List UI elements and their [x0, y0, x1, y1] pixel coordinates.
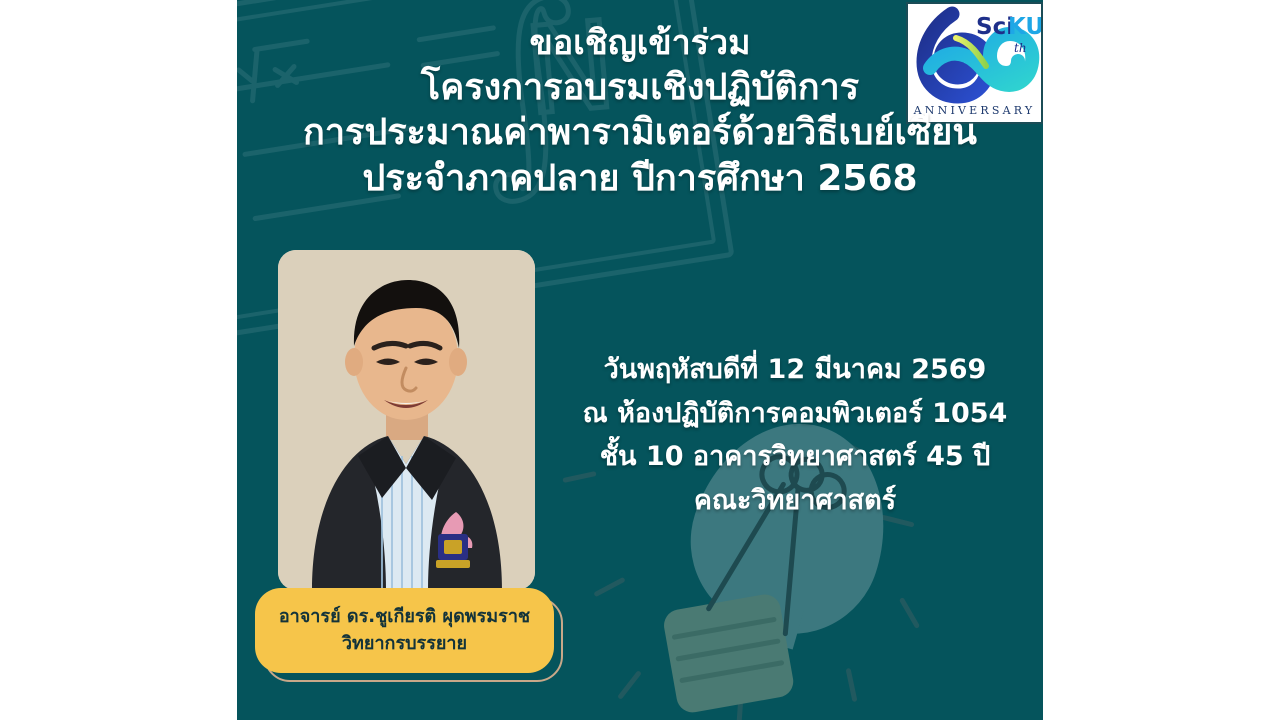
- letterbox-left: [0, 0, 237, 720]
- event-details: วันพฤหัสบดีที่ 12 มีนาคม 2569 ณ ห้องปฏิบ…: [555, 348, 1035, 523]
- poster-stage: ∫ N: [0, 0, 1280, 720]
- detail-room: ณ ห้องปฏิบัติการคอมพิวเตอร์ 1054: [555, 392, 1035, 436]
- headline-line-2: โครงการอบรมเชิงปฏิบัติการ: [237, 65, 1043, 110]
- badge-body: อาจารย์ ดร.ชูเกียรติ ผุดพรมราช วิทยากรบร…: [255, 588, 554, 673]
- speaker-badge: อาจารย์ ดร.ชูเกียรติ ผุดพรมราช วิทยากรบร…: [255, 588, 563, 682]
- speaker-portrait-illustration: [278, 250, 535, 590]
- speaker-name: อาจารย์ ดร.ชูเกียรติ ผุดพรมราช: [279, 604, 530, 630]
- headline-line-4: ประจำภาคปลาย ปีการศึกษา 2568: [237, 156, 1043, 201]
- speaker-photo: [278, 250, 535, 590]
- poster-canvas: ∫ N: [237, 0, 1043, 720]
- detail-building: ชั้น 10 อาคารวิทยาศาสตร์ 45 ปี: [555, 435, 1035, 479]
- detail-date: วันพฤหัสบดีที่ 12 มีนาคม 2569: [555, 348, 1035, 392]
- speaker-role: วิทยากรบรรยาย: [342, 631, 467, 657]
- detail-faculty: คณะวิทยาศาสตร์: [555, 479, 1035, 523]
- headline-line-1: ขอเชิญเข้าร่วม: [237, 22, 1043, 65]
- letterbox-right: [1043, 0, 1280, 720]
- page-title: ขอเชิญเข้าร่วม โครงการอบรมเชิงปฏิบัติการ…: [237, 22, 1043, 201]
- headline-line-3: การประมาณค่าพารามิเตอร์ด้วยวิธีเบย์เซียน: [237, 110, 1043, 155]
